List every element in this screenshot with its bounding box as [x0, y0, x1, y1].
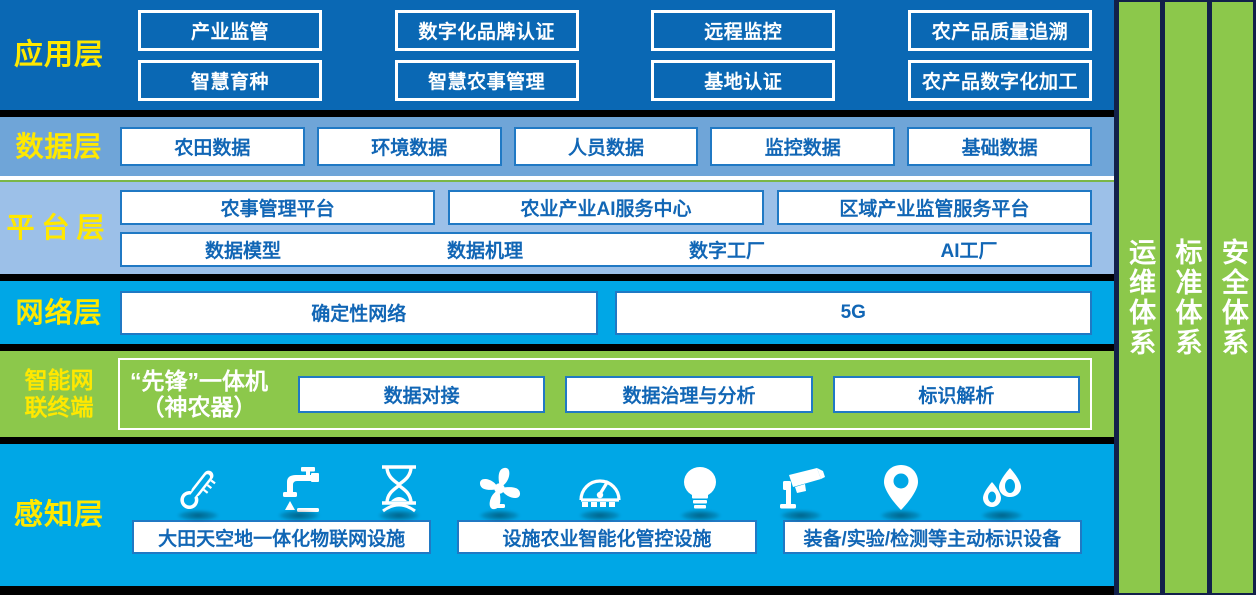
- terminal-device-line-2: （神农器）: [130, 394, 268, 420]
- network-item-deterministic-network[interactable]: 确定性网络: [120, 291, 598, 335]
- sensing-layer: 感知层: [0, 444, 1114, 595]
- platform-layer: 平台层 农事管理平台 农业产业AI服务中心 区域产业监管服务平台 数据模型 数据…: [0, 180, 1114, 281]
- pillar-security-system[interactable]: 安全体系: [1212, 2, 1253, 593]
- application-layer-label: 应用层: [0, 0, 118, 110]
- platform-row-2: 数据模型 数据机理 数字工厂 AI工厂: [120, 232, 1092, 267]
- terminal-item-data-integration[interactable]: 数据对接: [298, 376, 545, 413]
- sensing-layer-label: 感知层: [0, 444, 118, 586]
- hourglass-sensor-icon: [370, 458, 428, 520]
- data-layer-body: 农田数据 环境数据 人员数据 监控数据 基础数据: [118, 117, 1114, 176]
- intelligent-terminal-layer-body: “先锋”一体机 （神农器） 数据对接 数据治理与分析 标识解析: [118, 351, 1114, 437]
- platform-capability-strip: 数据模型 数据机理 数字工厂 AI工厂: [120, 232, 1092, 267]
- app-item-product-quality-traceability[interactable]: 农产品质量追溯: [908, 10, 1092, 51]
- gauge-icon: [571, 458, 629, 520]
- water-drops-icon: [973, 458, 1031, 520]
- platform-item-ai-factory[interactable]: AI工厂: [848, 236, 1090, 263]
- platform-item-data-model[interactable]: 数据模型: [122, 236, 364, 263]
- data-item-farmland-data[interactable]: 农田数据: [120, 127, 305, 166]
- data-item-monitoring-data[interactable]: 监控数据: [710, 127, 895, 166]
- network-layer-label: 网络层: [0, 281, 118, 344]
- platform-row-1: 农事管理平台 农业产业AI服务中心 区域产业监管服务平台: [120, 190, 1092, 225]
- sense-item-active-identification-equipment[interactable]: 装备/实验/检测等主动标识设备: [783, 520, 1082, 554]
- pillar-label-security: 安全体系: [1219, 238, 1246, 358]
- network-item-5g[interactable]: 5G: [615, 291, 1093, 335]
- application-layer: 应用层 产业监管 数字化品牌认证 远程监控 农产品质量追溯 智慧育种 智慧农事管…: [0, 0, 1114, 117]
- app-item-digital-brand-certification[interactable]: 数字化品牌认证: [395, 10, 579, 51]
- network-layer-body: 确定性网络 5G: [118, 281, 1114, 344]
- data-item-basic-data[interactable]: 基础数据: [907, 127, 1092, 166]
- application-layer-body: 产业监管 数字化品牌认证 远程监控 农产品质量追溯 智慧育种 智慧农事管理 基地…: [118, 0, 1114, 110]
- intelligent-terminal-layer-label: 智能网 联终端: [0, 351, 118, 437]
- pillar-standards-system[interactable]: 标准体系: [1165, 2, 1206, 593]
- cross-cutting-pillars: 运维体系 标准体系 安全体系: [1114, 0, 1256, 595]
- platform-item-regional-supervision-platform[interactable]: 区域产业监管服务平台: [777, 190, 1092, 225]
- sense-item-facility-agri-control[interactable]: 设施农业智能化管控设施: [457, 520, 756, 554]
- data-item-environment-data[interactable]: 环境数据: [317, 127, 502, 166]
- terminal-item-identifier-resolution[interactable]: 标识解析: [833, 376, 1080, 413]
- data-layer: 数据层 农田数据 环境数据 人员数据 监控数据 基础数据: [0, 117, 1114, 180]
- layer-stack: 应用层 产业监管 数字化品牌认证 远程监控 农产品质量追溯 智慧育种 智慧农事管…: [0, 0, 1114, 595]
- app-item-remote-monitoring[interactable]: 远程监控: [651, 10, 835, 51]
- light-bulb-icon: [671, 458, 729, 520]
- terminal-device-name: “先锋”一体机 （神农器）: [126, 368, 278, 420]
- terminal-device-line-1: “先锋”一体机: [130, 368, 268, 394]
- terminal-label-line-1: 智能网: [25, 367, 94, 394]
- pillar-operations-maintenance-system[interactable]: 运维体系: [1119, 2, 1160, 593]
- architecture-diagram: 应用层 产业监管 数字化品牌认证 远程监控 农产品质量追溯 智慧育种 智慧农事管…: [0, 0, 1256, 595]
- data-item-personnel-data[interactable]: 人员数据: [514, 127, 699, 166]
- sense-item-field-iot-facility[interactable]: 大田天空地一体化物联网设施: [132, 520, 431, 554]
- pillar-label-operations: 运维体系: [1126, 238, 1153, 358]
- water-tap-icon: [270, 458, 328, 520]
- platform-layer-label: 平台层: [0, 182, 118, 274]
- platform-item-data-mechanism[interactable]: 数据机理: [364, 236, 606, 263]
- app-item-smart-breeding[interactable]: 智慧育种: [138, 60, 322, 101]
- application-row-2: 智慧育种 智慧农事管理 基地认证 农产品数字化加工: [124, 60, 1092, 101]
- terminal-frame: “先锋”一体机 （神农器） 数据对接 数据治理与分析 标识解析: [118, 358, 1092, 430]
- platform-item-agri-ai-service-center[interactable]: 农业产业AI服务中心: [448, 190, 763, 225]
- app-item-base-certification[interactable]: 基地认证: [651, 60, 835, 101]
- intelligent-terminal-layer: 智能网 联终端 “先锋”一体机 （神农器） 数据对接 数据治理与分析 标识解析: [0, 351, 1114, 444]
- app-item-industry-supervision[interactable]: 产业监管: [138, 10, 322, 51]
- application-row-1: 产业监管 数字化品牌认证 远程监控 农产品质量追溯: [124, 10, 1092, 51]
- fan-icon: [471, 458, 529, 520]
- sensing-box-row: 大田天空地一体化物联网设施 设施农业智能化管控设施 装备/实验/检测等主动标识设…: [118, 520, 1092, 560]
- terminal-label-line-2: 联终端: [25, 394, 94, 421]
- location-pin-icon: [872, 458, 930, 520]
- platform-layer-body: 农事管理平台 农业产业AI服务中心 区域产业监管服务平台 数据模型 数据机理 数…: [118, 182, 1114, 274]
- sensing-layer-body: 大田天空地一体化物联网设施 设施农业智能化管控设施 装备/实验/检测等主动标识设…: [118, 444, 1114, 586]
- app-item-smart-farm-management[interactable]: 智慧农事管理: [395, 60, 579, 101]
- terminal-item-data-governance-analysis[interactable]: 数据治理与分析: [565, 376, 812, 413]
- platform-item-farm-management-platform[interactable]: 农事管理平台: [120, 190, 435, 225]
- thermometer-icon: [169, 458, 227, 520]
- network-layer: 网络层 确定性网络 5G: [0, 281, 1114, 351]
- sensing-icon-row: [118, 444, 1092, 520]
- data-layer-label: 数据层: [0, 117, 118, 176]
- camera-icon: [772, 458, 830, 520]
- platform-item-digital-factory[interactable]: 数字工厂: [606, 236, 848, 263]
- pillar-label-standards: 标准体系: [1172, 238, 1199, 358]
- app-item-product-digital-processing[interactable]: 农产品数字化加工: [908, 60, 1092, 101]
